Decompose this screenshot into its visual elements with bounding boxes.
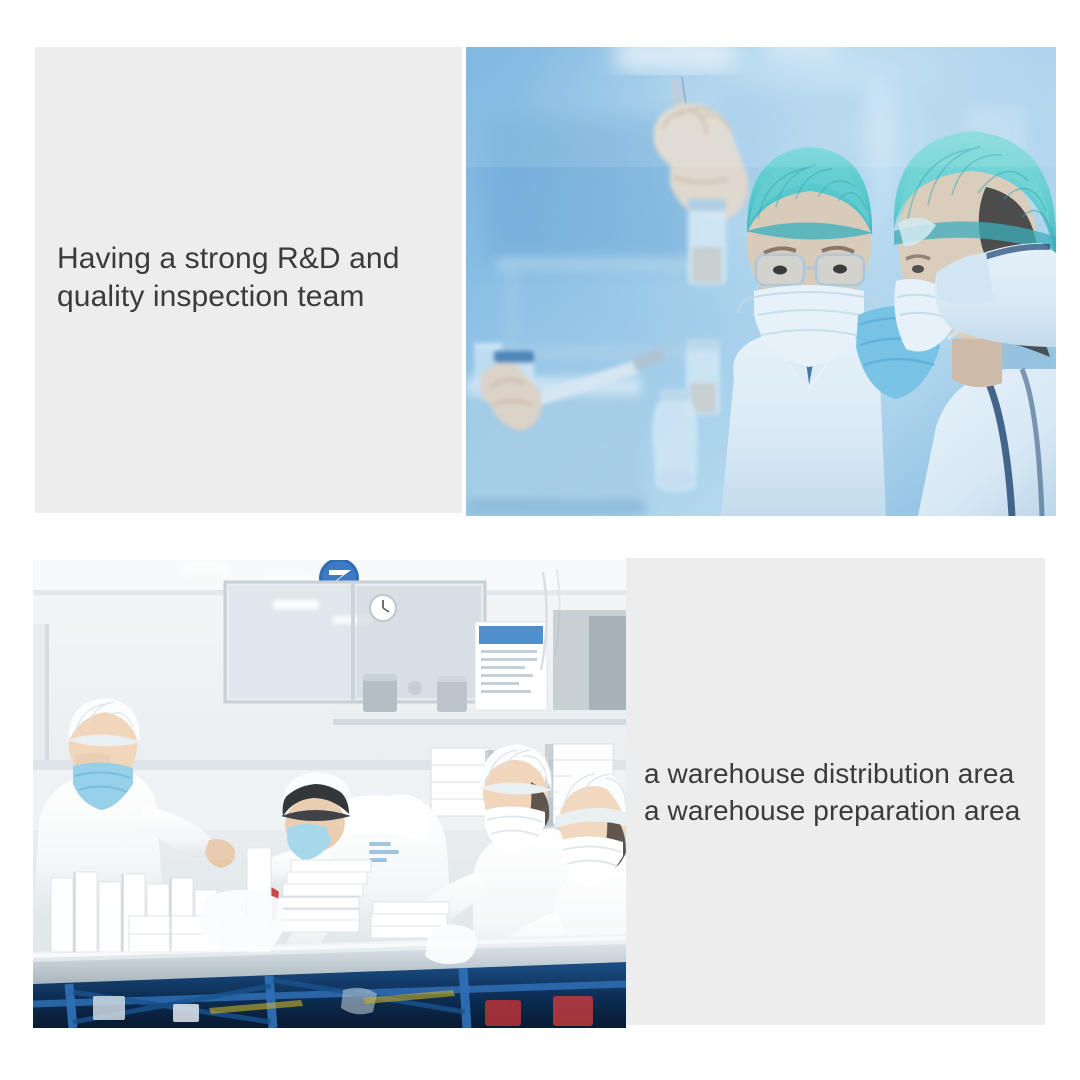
warehouse-packing-photo <box>33 560 626 1028</box>
bottom-section: a warehouse distribution area a warehous… <box>0 540 1080 1080</box>
lab-inspection-photo-graphic <box>466 47 1056 516</box>
bottom-caption-panel: a warehouse distribution area a warehous… <box>626 558 1045 1025</box>
bottom-caption-text: a warehouse distribution area a warehous… <box>644 756 1044 830</box>
top-caption-panel: Having a strong R&D and quality inspecti… <box>35 47 462 513</box>
lab-inspection-photo <box>466 47 1056 516</box>
warehouse-packing-photo-graphic <box>33 560 626 1028</box>
top-section: Having a strong R&D and quality inspecti… <box>0 0 1080 540</box>
top-caption-text: Having a strong R&D and quality inspecti… <box>57 240 453 317</box>
